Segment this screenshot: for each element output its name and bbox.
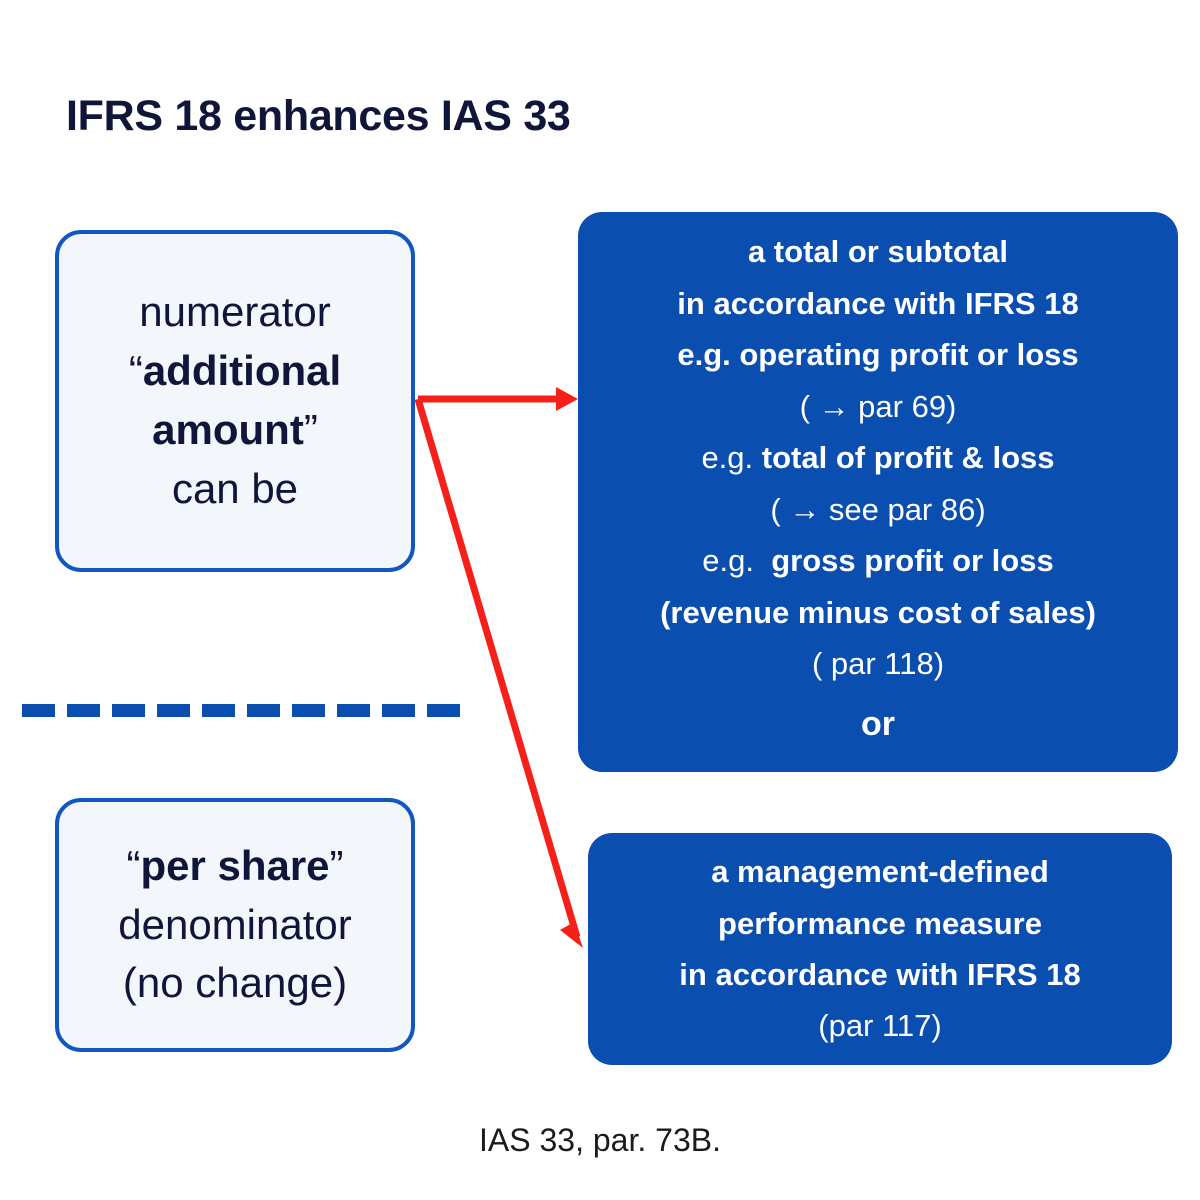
or-connector-label: or: [861, 690, 895, 758]
numerator-line-3-text: amount: [152, 406, 304, 453]
source-caption: IAS 33, par. 73B.: [0, 1122, 1200, 1159]
numerator-line-2-text: additional: [143, 347, 341, 394]
denominator-line-1-text: per share: [140, 842, 329, 889]
total-line-9-reference: ( par 118): [812, 638, 944, 689]
total-line-5: e.g. total of profit & loss: [701, 432, 1054, 483]
total-line-5-emphasis: total of profit & loss: [762, 440, 1055, 475]
total-line-7-emphasis: gross profit or loss: [771, 543, 1053, 578]
mpm-line-1: a management-defined: [711, 846, 1049, 897]
quote-open-icon: “: [126, 842, 140, 889]
total-line-4-reference: ( → par 69): [800, 381, 957, 432]
management-defined-performance-measure-box: a management-defined performance measure…: [588, 833, 1172, 1065]
quote-close-icon: ”: [330, 842, 344, 889]
mpm-line-4-reference: (par 117): [818, 1000, 942, 1051]
denominator-box: “per share” denominator (no change): [55, 798, 415, 1052]
total-line-3: e.g. operating profit or loss: [677, 329, 1078, 380]
numerator-line-1: numerator: [139, 283, 330, 342]
denominator-line-1: “per share”: [126, 837, 343, 896]
total-line-5-prefix: e.g.: [701, 440, 753, 475]
arrowhead-right-icon: [556, 387, 578, 411]
numerator-line-3: amount”: [152, 401, 318, 460]
dashed-separator: [22, 704, 466, 717]
numerator-line-2: “additional: [129, 342, 341, 401]
numerator-line-4: can be: [172, 460, 298, 519]
denominator-line-2: denominator: [118, 896, 351, 955]
quote-open-icon: “: [129, 347, 143, 394]
mpm-line-3: in accordance with IFRS 18: [679, 949, 1080, 1000]
arrowhead-down-icon: [560, 922, 583, 948]
denominator-line-3: (no change): [123, 954, 347, 1013]
numerator-box: numerator “additional amount” can be: [55, 230, 415, 572]
quote-close-icon: ”: [304, 406, 318, 453]
page-title: IFRS 18 enhances IAS 33: [66, 92, 571, 141]
total-line-6-reference: ( → see par 86): [770, 484, 985, 535]
total-line-1: a total or subtotal: [748, 226, 1008, 277]
total-line-7-prefix: e.g.: [702, 543, 754, 578]
mpm-line-2: performance measure: [718, 898, 1042, 949]
total-line-7: e.g. gross profit or loss: [702, 535, 1053, 586]
total-subtotal-box: a total or subtotal in accordance with I…: [578, 212, 1178, 772]
arrow-numerator-to-mpm: [418, 399, 577, 937]
total-line-8: (revenue minus cost of sales): [660, 587, 1096, 638]
total-line-2: in accordance with IFRS 18: [677, 278, 1078, 329]
diagram-canvas: IFRS 18 enhances IAS 33 numerator “addit…: [0, 0, 1200, 1200]
